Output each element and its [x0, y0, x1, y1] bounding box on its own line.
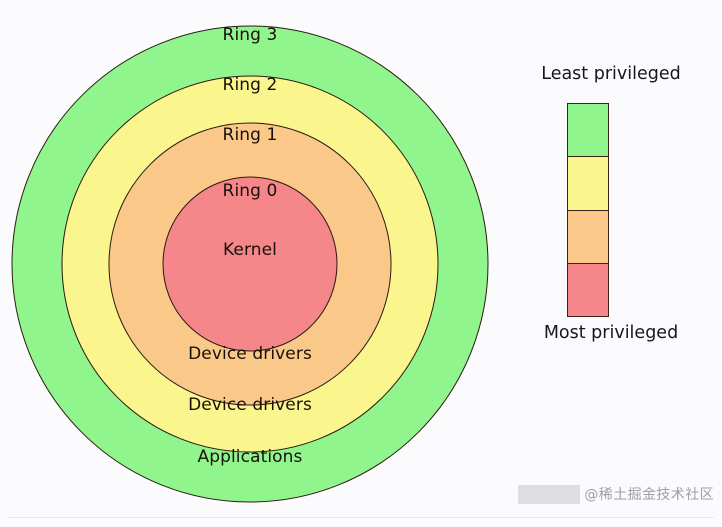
legend-swatch-ring-3	[568, 104, 608, 157]
legend-swatch-ring-0	[568, 264, 608, 316]
ring-0-circle	[163, 176, 338, 351]
watermark-text: @稀土掘金技术社区	[584, 484, 714, 504]
protection-rings-diagram: Ring 3 Ring 2 Ring 1 Ring 0 Kernel Devic…	[0, 0, 500, 527]
legend-swatch-ring-1	[568, 211, 608, 264]
watermark-blur-block	[518, 485, 580, 504]
legend-swatch-ring-2	[568, 157, 608, 210]
diagram-canvas: Ring 3 Ring 2 Ring 1 Ring 0 Kernel Devic…	[0, 0, 722, 527]
legend-color-bar	[567, 103, 609, 317]
legend-caption-least-privileged: Least privileged	[500, 64, 722, 84]
privilege-legend: Least privileged Most privileged	[500, 0, 722, 527]
legend-caption-most-privileged: Most privileged	[500, 323, 722, 343]
watermark: @稀土掘金技术社区	[518, 483, 714, 505]
bottom-divider	[8, 517, 714, 518]
